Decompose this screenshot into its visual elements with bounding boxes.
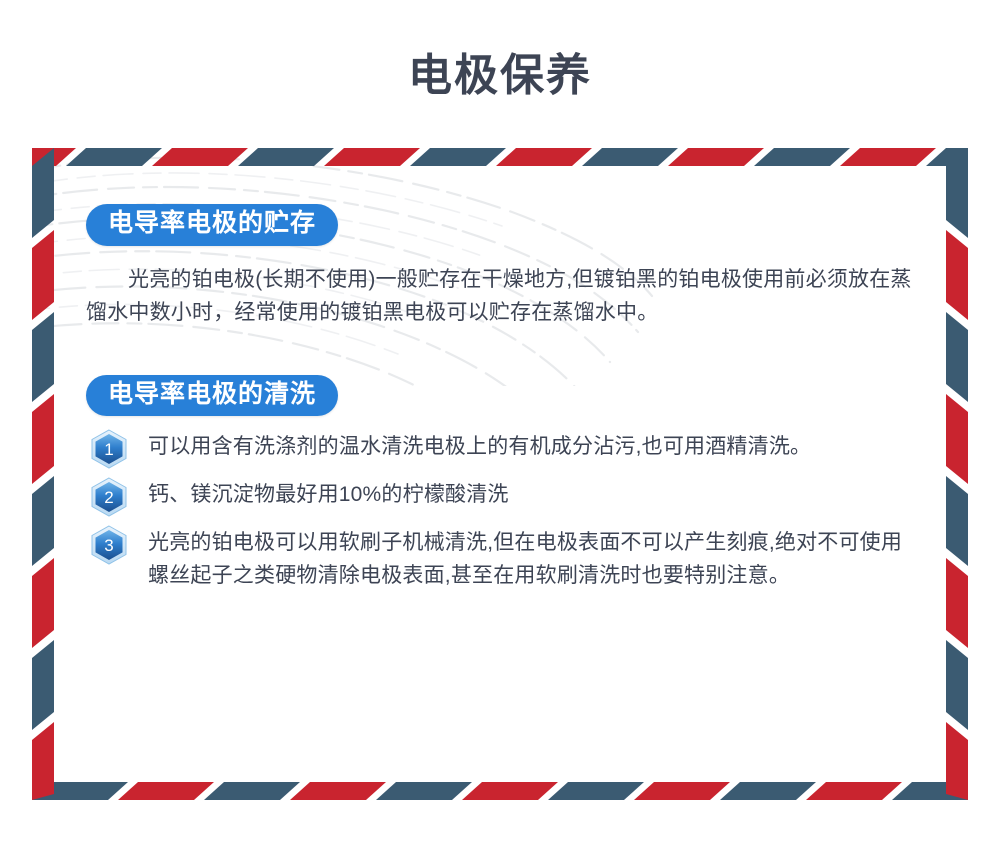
list-item-text: 光亮的铂电极可以用软刷子机械清洗,但在电极表面不可以产生刻痕,绝对不可使用螺丝起… [148,526,916,592]
stripes-top [32,148,968,166]
cleaning-steps-list: 1 可以用含有洗涤剂的温水清洗电极上的有机成分沾污,也可用酒精清洗。 [86,430,916,592]
list-item-text: 钙、镁沉淀物最好用10%的柠檬酸清洗 [148,478,916,511]
hexagon-number-icon: 2 [90,477,128,517]
section-cleaning: 电导率电极的清洗 [86,375,916,593]
frame-content: 电导率电极的贮存 光亮的铂电极(长期不使用)一般贮存在干燥地方,但镀铂黑的铂电极… [86,204,916,592]
stripes-bottom [32,782,968,800]
section-badge-cleaning: 电导率电极的清洗 [86,375,338,417]
stripes-right [946,148,968,800]
list-item-text: 可以用含有洗涤剂的温水清洗电极上的有机成分沾污,也可用酒精清洗。 [148,430,916,463]
hexagon-number-2: 2 [104,488,113,507]
hexagon-number-3: 3 [104,536,113,555]
hexagon-number-1: 1 [104,440,113,459]
section-badge-storage: 电导率电极的贮存 [86,204,338,246]
list-item: 1 可以用含有洗涤剂的温水清洗电极上的有机成分沾污,也可用酒精清洗。 [86,430,916,464]
list-item: 2 钙、镁沉淀物最好用10%的柠檬酸清洗 [86,478,916,512]
hexagon-number-icon: 1 [90,429,128,469]
page-title: 电极保养 [0,52,1000,100]
storage-paragraph: 光亮的铂电极(长期不使用)一般贮存在干燥地方,但镀铂黑的铂电极使用前必须放在蒸馏… [86,263,916,329]
hexagon-number-icon: 3 [90,525,128,565]
stripes-left [32,148,54,800]
section-storage: 电导率电极的贮存 光亮的铂电极(长期不使用)一般贮存在干燥地方,但镀铂黑的铂电极… [86,204,916,329]
page-root: 电极保养 [0,0,1000,868]
airmail-frame: 电导率电极的贮存 光亮的铂电极(长期不使用)一般贮存在干燥地方,但镀铂黑的铂电极… [32,148,968,800]
list-item: 3 光亮的铂电极可以用软刷子机械清洗,但在电极表面不可以产生刻痕,绝对不可使用螺… [86,526,916,592]
